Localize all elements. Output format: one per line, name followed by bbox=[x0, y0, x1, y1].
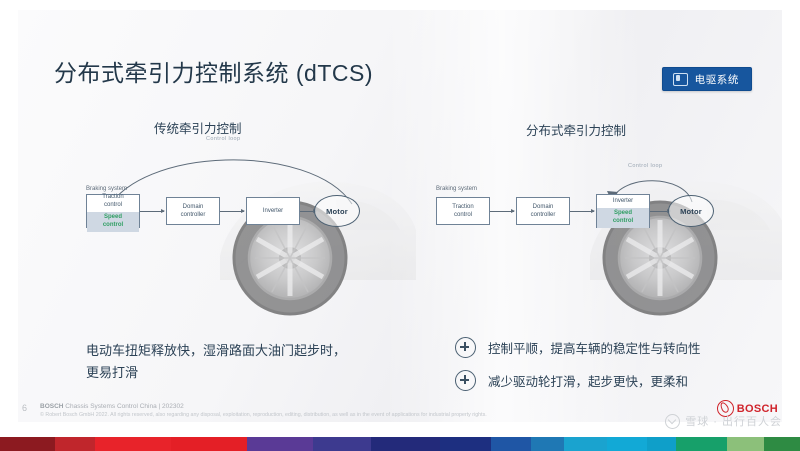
benefit-text: 减少驱动轮打滑，起步更快，更柔和 bbox=[488, 371, 688, 390]
motor-node-left[interactable]: Motor bbox=[314, 195, 360, 227]
bottom-left-line-1: 电动车扭矩释放快，湿滑路面大油门起步时， bbox=[86, 340, 346, 363]
arrow-1-right bbox=[490, 211, 514, 212]
color-bar-segment-11 bbox=[607, 437, 647, 451]
arrow-1-left bbox=[140, 211, 164, 212]
benefit-item-1: 控制平顺，提高车辆的稳定性与转向性 bbox=[455, 337, 701, 358]
block-subtitle: Speedcontrol bbox=[87, 212, 139, 232]
watermark: 雪球 · 出行百人会 bbox=[665, 413, 782, 429]
color-bar-segment-10 bbox=[564, 437, 608, 451]
footer-line-1: BOSCH Chassis Systems Control China | 20… bbox=[40, 403, 184, 410]
color-bar-segment-8 bbox=[491, 437, 531, 451]
color-bar-segment-7 bbox=[440, 437, 491, 451]
color-bar-segment-3 bbox=[171, 437, 247, 451]
block-inverter-right[interactable]: Inverter Speedcontrol bbox=[596, 194, 650, 228]
block-inverter-left[interactable]: Inverter bbox=[246, 197, 300, 225]
arrow-2-left bbox=[220, 211, 244, 212]
motor-label: Motor bbox=[680, 207, 702, 216]
block-traction-control-left[interactable]: Tractioncontrol Speedcontrol bbox=[86, 194, 140, 228]
panel-heading-right: 分布式牵引力控制 bbox=[526, 120, 626, 139]
footer-subtitle: Chassis Systems Control China | 202302 bbox=[65, 403, 183, 410]
block-title: Tractioncontrol bbox=[87, 190, 139, 212]
panel-distributed: NEW 分布式牵引力控制 Control loop Braking system… bbox=[400, 10, 782, 422]
color-bar-segment-4 bbox=[247, 437, 312, 451]
color-bar-segment-15 bbox=[764, 437, 800, 451]
panel-heading-left: 传统牵引力控制 bbox=[154, 118, 242, 137]
color-bar-segment-0 bbox=[0, 437, 55, 451]
plus-circle-icon bbox=[455, 370, 476, 391]
motor-label: Motor bbox=[326, 207, 348, 216]
slide-canvas: 分布式牵引力控制系统 (dTCS) 电驱系统 bbox=[18, 10, 782, 422]
plus-circle-icon bbox=[455, 337, 476, 358]
color-bar-segment-2 bbox=[95, 437, 171, 451]
bottom-left-line-2: 更易打滑 bbox=[86, 362, 138, 385]
arrow-2-right bbox=[570, 211, 594, 212]
benefit-item-2: 减少驱动轮打滑，起步更快，更柔和 bbox=[455, 370, 688, 391]
benefit-text: 控制平顺，提高车辆的稳定性与转向性 bbox=[488, 338, 701, 357]
color-bar-segment-6 bbox=[371, 437, 440, 451]
block-title: Domaincontroller bbox=[167, 200, 219, 222]
color-bar-segment-14 bbox=[727, 437, 763, 451]
motor-node-right[interactable]: Motor bbox=[668, 195, 714, 227]
color-bar-segment-13 bbox=[676, 437, 727, 451]
watermark-label: 雪球 · 出行百人会 bbox=[685, 413, 782, 429]
braking-system-label-right: Braking system bbox=[436, 186, 477, 192]
color-bar-segment-9 bbox=[531, 437, 564, 451]
block-title: Inverter bbox=[597, 194, 649, 208]
snowball-icon bbox=[665, 414, 680, 429]
block-domain-controller-left[interactable]: Domaincontroller bbox=[166, 197, 220, 225]
slide-screenshot: 分布式牵引力控制系统 (dTCS) 电驱系统 bbox=[0, 0, 800, 451]
block-title: Inverter bbox=[247, 204, 299, 218]
bosch-supergraphic-bar bbox=[0, 437, 800, 451]
footer-brand: BOSCH bbox=[40, 403, 63, 410]
block-subtitle: Speedcontrol bbox=[597, 208, 649, 228]
arrow-3-right bbox=[650, 211, 670, 212]
color-bar-segment-5 bbox=[313, 437, 371, 451]
color-bar-segment-1 bbox=[55, 437, 95, 451]
footer-copyright: © Robert Bosch GmbH 2022. All rights res… bbox=[40, 412, 487, 418]
block-traction-control-right[interactable]: Tractioncontrol bbox=[436, 197, 490, 225]
block-domain-controller-right[interactable]: Domaincontroller bbox=[516, 197, 570, 225]
block-title: Domaincontroller bbox=[517, 200, 569, 222]
block-title: Tractioncontrol bbox=[437, 200, 489, 222]
control-loop-label-right: Control loop bbox=[628, 163, 662, 169]
page-number: 6 bbox=[22, 403, 27, 413]
color-bar-segment-12 bbox=[647, 437, 676, 451]
